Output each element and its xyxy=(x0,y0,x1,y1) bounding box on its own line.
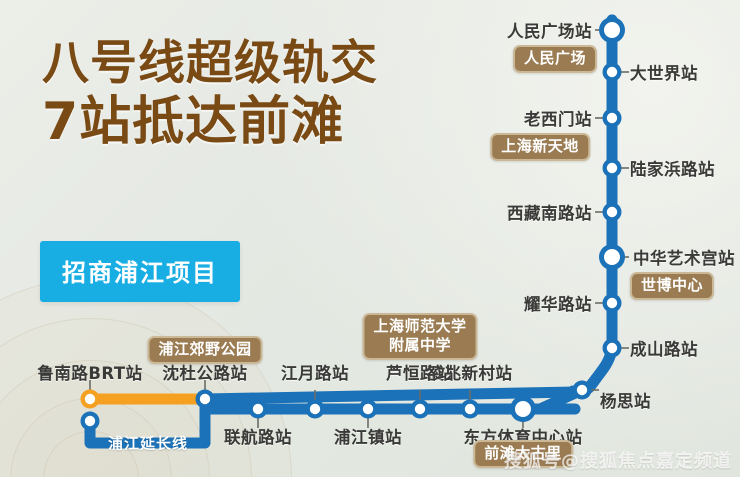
station-label: 西藏南路站 xyxy=(507,200,592,224)
station-label: 芦恒路站 xyxy=(386,360,454,384)
watermark: 搜狐号@搜狐焦点嘉定频道 xyxy=(504,447,732,473)
station-label: 陆家浜路站 xyxy=(630,156,715,180)
station-node-inner xyxy=(577,385,587,395)
station-node-inner xyxy=(253,404,263,414)
station-node-inner xyxy=(604,249,620,265)
poi-tag: 上海新天地 xyxy=(490,133,590,161)
station-label: 耀华路站 xyxy=(524,291,592,315)
poi-tag: 人民广场 xyxy=(513,45,597,73)
poi-tag-line: 浦江郊野公园 xyxy=(158,340,251,359)
station-label: 成山路站 xyxy=(630,336,698,360)
poi-tag: 世博中心 xyxy=(630,272,714,300)
station-label: 杨思站 xyxy=(600,388,651,412)
station-label: 鲁南路BRT站 xyxy=(37,360,142,384)
headline-line-2: 7站抵达前滩 xyxy=(42,96,378,149)
poi-tag-line: 附属中学 xyxy=(373,336,466,355)
headline-line-1: 八号线超级轨交 xyxy=(42,40,378,88)
station-node-inner xyxy=(465,404,475,414)
station-node-inner xyxy=(607,343,617,353)
station-node-inner xyxy=(607,67,617,77)
poi-tag-line: 上海师范大学 xyxy=(373,317,466,336)
station-node-inner xyxy=(415,404,425,414)
station-node-inner xyxy=(607,207,617,217)
station-node-inner xyxy=(363,404,373,414)
station-label: 浦江镇站 xyxy=(334,424,402,448)
poi-tag-line: 世博中心 xyxy=(641,276,703,295)
station-node-inner xyxy=(607,163,617,173)
station-label: 江月路站 xyxy=(281,360,349,384)
project-badge: 招商浦江项目 xyxy=(40,241,240,302)
station-node-inner xyxy=(85,394,95,404)
station-label: 老西门站 xyxy=(524,106,592,130)
station-node-inner xyxy=(200,394,210,404)
poi-tag: 上海师范大学附属中学 xyxy=(362,313,477,360)
station-node-inner xyxy=(515,401,531,417)
station-label: 联航路站 xyxy=(224,424,292,448)
station-node-inner xyxy=(607,113,617,123)
station-node-inner xyxy=(85,416,95,426)
extension-line-label: 浦江延长线 xyxy=(108,433,188,454)
poi-tag-line: 上海新天地 xyxy=(501,137,579,156)
station-node-inner xyxy=(604,22,620,38)
station-label: 人民广场站 xyxy=(507,18,592,42)
poi-tag-line: 人民广场 xyxy=(524,49,586,68)
poi-tag: 浦江郊野公园 xyxy=(147,336,262,364)
station-node-inner xyxy=(310,404,320,414)
station-label: 大世界站 xyxy=(630,60,698,84)
headline: 八号线超级轨交 7站抵达前滩 xyxy=(42,40,378,149)
metro-line-poster: 八号线超级轨交 7站抵达前滩 招商浦江项目 浦江延长线 人民广场站大世界站老西门… xyxy=(0,0,740,477)
station-node-inner xyxy=(607,298,617,308)
station-label: 中华艺术宫站 xyxy=(633,245,735,269)
